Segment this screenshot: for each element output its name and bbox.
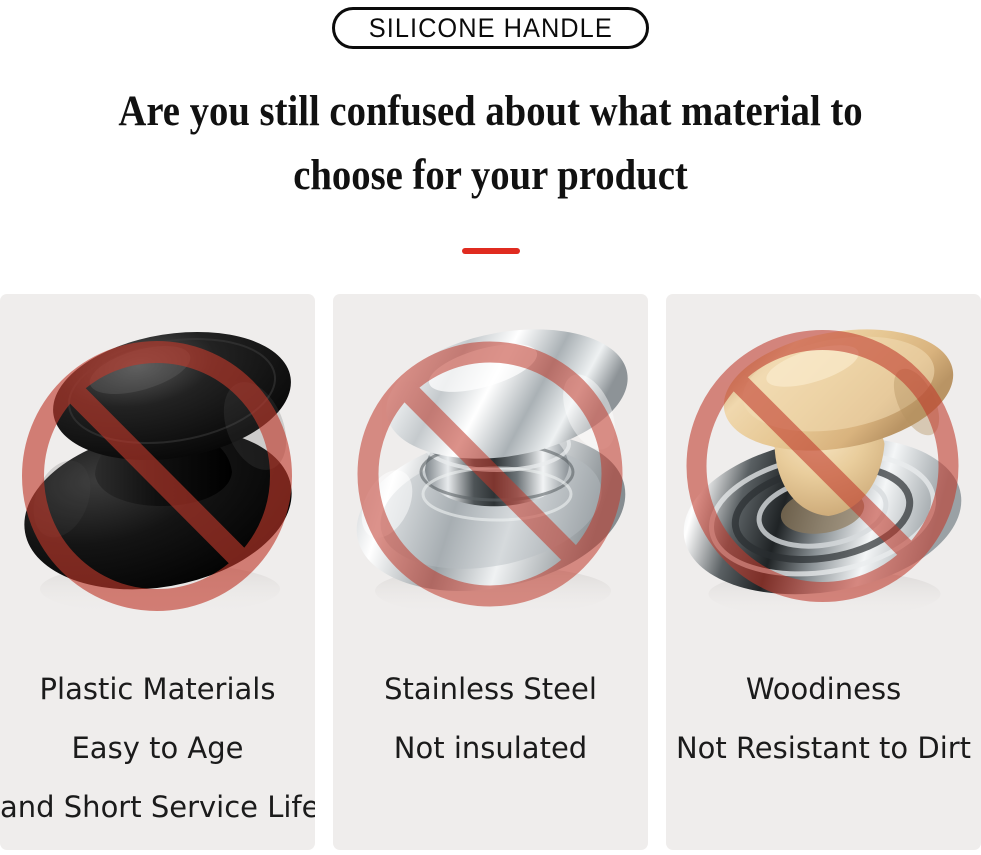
caption-line: Stainless Steel bbox=[333, 660, 648, 719]
caption-line: Plastic Materials bbox=[0, 660, 315, 719]
badge-container: SILICONE HANDLE bbox=[0, 7, 981, 49]
page-headline: Are you still confused about what materi… bbox=[0, 80, 981, 208]
wooden-knob-prohibited-icon bbox=[666, 294, 981, 654]
material-card-stainless-steel[interactable]: Stainless Steel Not insulated bbox=[333, 294, 648, 850]
divider-container bbox=[0, 248, 981, 254]
caption-line: Easy to Age bbox=[0, 719, 315, 778]
silicone-handle-badge: SILICONE HANDLE bbox=[332, 7, 650, 49]
caption-line: Not insulated bbox=[333, 719, 648, 778]
card-caption-woodiness: Woodiness Not Resistant to Dirt bbox=[666, 654, 981, 778]
red-divider-bar bbox=[462, 248, 520, 254]
material-cards-row: Plastic Materials Easy to Age and Short … bbox=[0, 294, 981, 850]
stainless-steel-knob-prohibited-icon bbox=[333, 294, 648, 654]
caption-line: and Short Service Life bbox=[0, 778, 315, 837]
material-card-woodiness[interactable]: Woodiness Not Resistant to Dirt bbox=[666, 294, 981, 850]
caption-line: Woodiness bbox=[666, 660, 981, 719]
headline-line-2: choose for your product bbox=[49, 144, 932, 208]
card-caption-plastic: Plastic Materials Easy to Age and Short … bbox=[0, 654, 315, 837]
badge-label: SILICONE HANDLE bbox=[368, 15, 612, 42]
plastic-knob-prohibited-icon bbox=[0, 294, 315, 654]
material-card-plastic[interactable]: Plastic Materials Easy to Age and Short … bbox=[0, 294, 315, 850]
card-caption-stainless-steel: Stainless Steel Not insulated bbox=[333, 654, 648, 778]
headline-line-1: Are you still confused about what materi… bbox=[49, 80, 932, 144]
caption-line: Not Resistant to Dirt bbox=[666, 719, 981, 778]
